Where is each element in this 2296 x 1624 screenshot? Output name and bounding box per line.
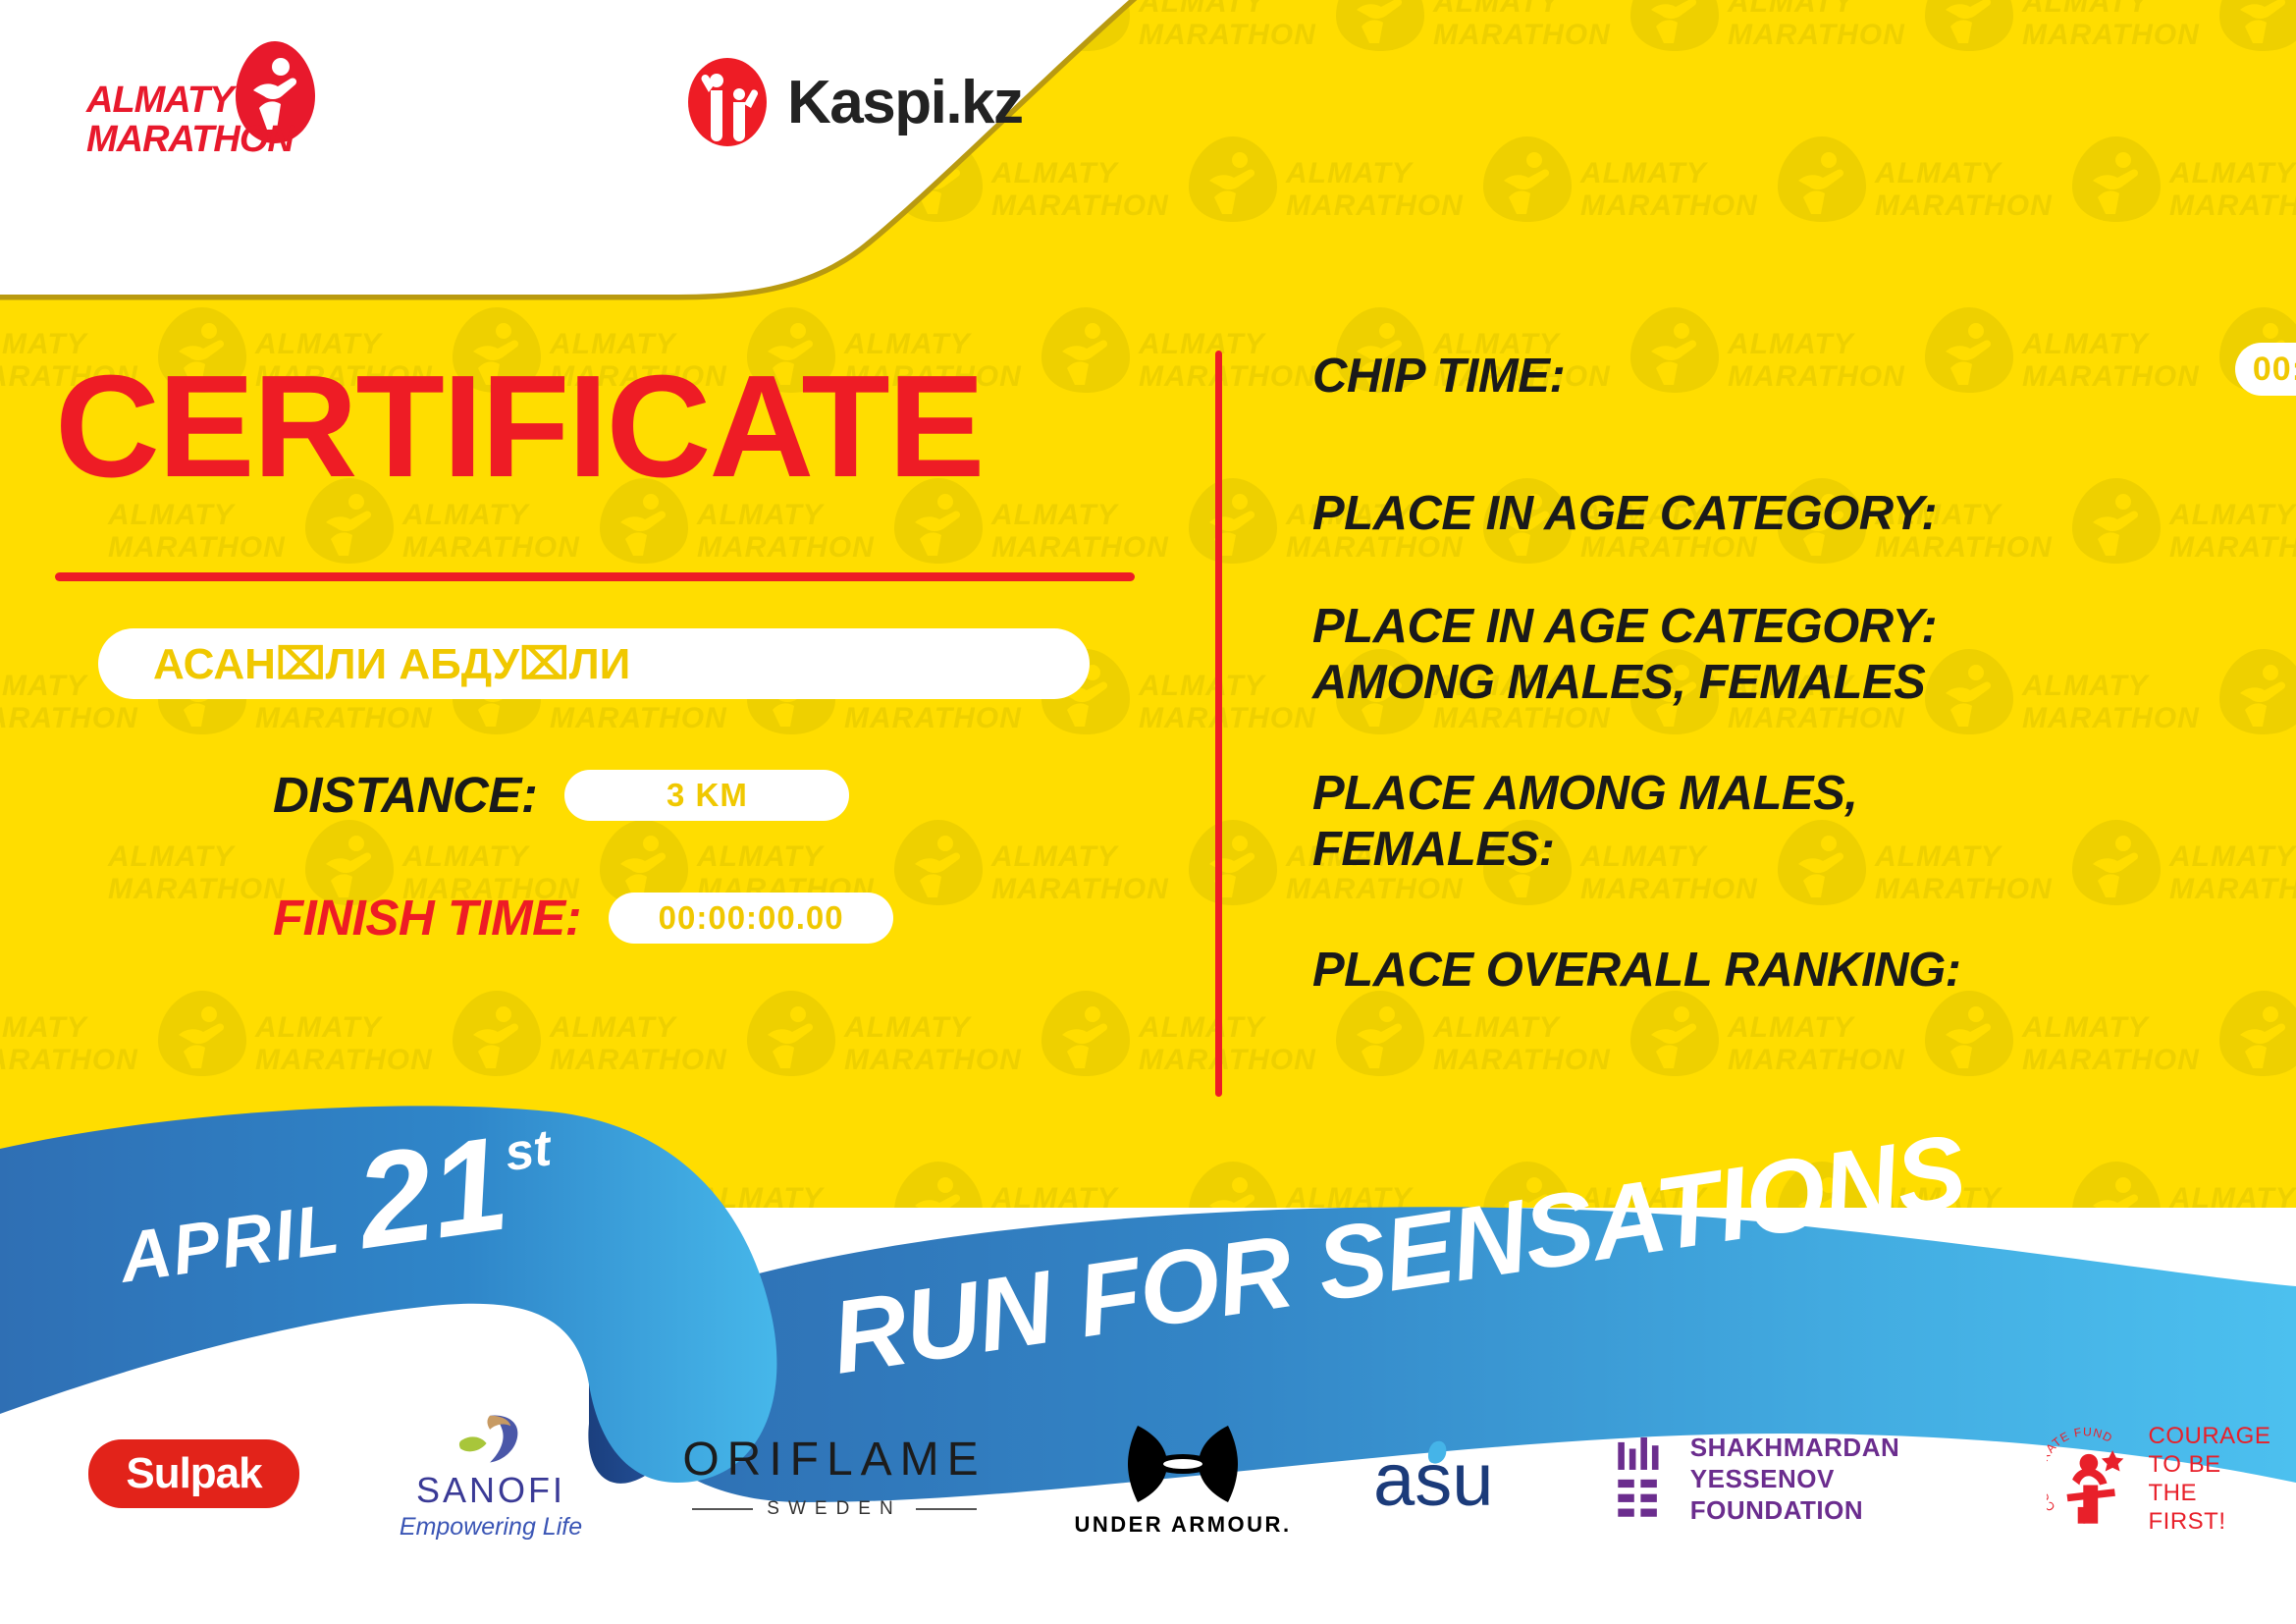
title-underline	[55, 572, 1135, 581]
watermark-runner-icon	[2216, 988, 2296, 1078]
watermark-tile: ALMATY MARATHON	[1286, 132, 1580, 302]
finish-time-row: FINISH TIME: 00:00:00.00	[273, 889, 893, 947]
watermark-text: ALMATY MARATHON	[2169, 840, 2296, 905]
watermark-runner-icon	[1039, 988, 1133, 1078]
place-age-category-gender-label: PLACE IN AGE CATEGORY: AMONG MALES, FEMA…	[1312, 599, 1937, 711]
place-overall-label: PLACE OVERALL RANKING:	[1312, 943, 1961, 999]
oriflame-rule-left	[692, 1508, 753, 1510]
sanofi-leaf-icon	[451, 1414, 531, 1466]
watermark-text: ALMATY MARATHON	[1728, 0, 1905, 51]
watermark-text: ALMATY MARATHON	[2022, 1011, 2200, 1076]
chip-time-value-pill: 00:00:00.00	[2235, 343, 2296, 396]
oriflame-sub-label: SWEDEN	[767, 1498, 901, 1520]
kaspi-person-icon	[687, 57, 768, 147]
finish-time-value-pill: 00:00:00.00	[609, 893, 893, 944]
watermark-runner-icon	[1922, 0, 2016, 53]
stat-row-chip-time: CHIP TIME: 00:00:00.00	[1312, 349, 1565, 405]
watermark-runner-icon	[1186, 475, 1280, 566]
watermark-runner-icon	[1186, 817, 1280, 907]
watermark-text: ALMATY MARATHON	[108, 499, 286, 564]
sulpak-logo: Sulpak	[88, 1439, 299, 1508]
kaspi-logo-text: Kaspi.kz	[787, 68, 1023, 137]
sponsor-corporate-fund: CORPORATE FUND COURAGE TO BE THE FIRST!	[2047, 1416, 2272, 1542]
watermark-text: ALMATY MARATHON	[1728, 1011, 1905, 1076]
watermark-text: ALMATY MARATHON	[1286, 157, 1464, 222]
watermark-text: ALMATY MARATHON	[108, 840, 286, 905]
watermark-text: ALMATY MARATHON	[402, 499, 580, 564]
watermark-tile: ALMATY MARATHON	[991, 473, 1286, 644]
watermark-runner-icon	[2069, 134, 2163, 224]
event-day-suffix: st	[502, 1118, 555, 1183]
place-among-gender-label: PLACE AMONG MALES, FEMALES:	[1312, 766, 1857, 878]
watermark-text: ALMATY MARATHON	[2022, 0, 2200, 51]
distance-value-pill: 3 KM	[564, 770, 849, 821]
watermark-runner-icon	[1333, 0, 1427, 53]
watermark-runner-icon	[2216, 0, 2296, 53]
stat-row-place-age-category-gender: PLACE IN AGE CATEGORY: AMONG MALES, FEMA…	[1312, 599, 1937, 711]
watermark-tile: ALMATY MARATHON	[2022, 0, 2296, 132]
sponsor-asu: asu	[1364, 1422, 1551, 1530]
chip-time-label: CHIP TIME:	[1312, 349, 1565, 405]
watermark-runner-icon	[2216, 646, 2296, 736]
distance-value: 3 KM	[667, 777, 748, 814]
watermark-runner-icon	[1628, 304, 1722, 395]
watermark-runner-icon	[1480, 134, 1575, 224]
watermark-runner-icon	[1628, 988, 1722, 1078]
watermark-tile: ALMATY MARATHON	[1728, 302, 2022, 473]
watermark-runner-icon	[1333, 988, 1427, 1078]
watermark-runner-icon	[744, 988, 838, 1078]
watermark-tile: ALMATY MARATHON	[2169, 815, 2296, 986]
sulpak-label: Sulpak	[126, 1449, 261, 1498]
almaty-marathon-logo: ALMATY MARATHON	[86, 47, 312, 155]
watermark-text: ALMATY MARATHON	[1139, 670, 1316, 734]
watermark-runner-icon	[1039, 304, 1133, 395]
watermark-text: ALMATY MARATHON	[844, 1011, 1022, 1076]
watermark-text: ALMATY MARATHON	[255, 1011, 433, 1076]
sponsor-sanofi: SANOFI Empowering Life	[393, 1414, 589, 1542]
watermark-text: ALMATY MARATHON	[1433, 1011, 1611, 1076]
finish-time-value: 00:00:00.00	[659, 899, 844, 937]
courage-child-icon: CORPORATE FUND	[2047, 1425, 2135, 1533]
watermark-text: ALMATY MARATHON	[2022, 670, 2200, 734]
watermark-tile: ALMATY MARATHON	[1433, 0, 1728, 132]
sponsor-under-armour: UNDER ARMOUR.	[1070, 1416, 1296, 1543]
stat-row-place-overall: PLACE OVERALL RANKING: 99999	[1312, 943, 1961, 999]
participant-name-field: АСАН⌧ЛИ АБДУ⌧ЛИ	[98, 628, 1090, 699]
oriflame-rule-right	[916, 1508, 977, 1510]
watermark-text: ALMATY MARATHON	[0, 1011, 138, 1076]
oriflame-sub-row: SWEDEN	[692, 1498, 976, 1520]
watermark-runner-icon	[450, 988, 544, 1078]
watermark-tile: ALMATY MARATHON	[991, 815, 1286, 986]
watermark-text: ALMATY MARATHON	[1728, 328, 1905, 393]
watermark-runner-icon	[2069, 475, 2163, 566]
finish-time-label: FINISH TIME:	[273, 889, 581, 947]
watermark-tile: ALMATY MARATHON	[2022, 644, 2296, 815]
oriflame-label: ORIFLAME	[682, 1433, 986, 1487]
event-day: 21	[349, 1115, 515, 1269]
watermark-text: ALMATY MARATHON	[1433, 0, 1611, 51]
stat-row-place-among-gender: PLACE AMONG MALES, FEMALES: 447	[1312, 766, 1857, 878]
watermark-text: ALMATY MARATHON	[550, 1011, 727, 1076]
vertical-divider	[1215, 351, 1222, 1097]
watermark-runner-icon	[891, 817, 986, 907]
watermark-tile: ALMATY MARATHON	[1580, 132, 1875, 302]
participant-name-value: АСАН⌧ЛИ АБДУ⌧ЛИ	[153, 639, 630, 689]
yessenov-label: SHAKHMARDAN YESSENOV FOUNDATION	[1690, 1432, 1988, 1526]
watermark-text: ALMATY MARATHON	[1875, 840, 2053, 905]
sponsor-yessenov-foundation: SHAKHMARDAN YESSENOV FOUNDATION	[1615, 1418, 1988, 1540]
under-armour-label: UNDER ARMOUR.	[1074, 1512, 1291, 1538]
sponsor-oriflame: ORIFLAME SWEDEN	[687, 1422, 982, 1530]
watermark-text: ALMATY MARATHON	[2169, 499, 2296, 564]
watermark-text: ALMATY MARATHON	[697, 499, 875, 564]
watermark-runner-icon	[1775, 134, 1869, 224]
watermark-text: ALMATY MARATHON	[991, 840, 1169, 905]
kaspi-logo: Kaspi.kz	[687, 57, 1023, 147]
sponsor-sulpak: Sulpak	[88, 1439, 299, 1508]
sponsor-bar: Sulpak SANOFI Empowering Life ORIFLAME S…	[0, 1404, 2296, 1624]
watermark-text: ALMATY MARATHON	[991, 499, 1169, 564]
asu-wordmark-icon: asu	[1369, 1429, 1546, 1523]
watermark-runner-icon	[2069, 817, 2163, 907]
watermark-text: ALMATY MARATHON	[1580, 157, 1758, 222]
sanofi-label: SANOFI	[416, 1470, 565, 1511]
chip-time-value: 00:00:00.00	[2253, 351, 2296, 389]
watermark-tile: ALMATY MARATHON	[1728, 0, 2022, 132]
watermark-text: ALMATY MARATHON	[2169, 157, 2296, 222]
watermark-runner-icon	[155, 988, 249, 1078]
place-age-category-label: PLACE IN AGE CATEGORY:	[1312, 486, 1937, 542]
watermark-runner-icon	[1922, 988, 2016, 1078]
corporate-fund-arc-text: CORPORATE FUND	[2047, 1425, 2115, 1514]
page-title: CERTIFICATE	[55, 353, 983, 501]
corporate-fund-label: COURAGE TO BE THE FIRST!	[2149, 1422, 2273, 1536]
watermark-tile: ALMATY MARATHON	[1875, 132, 2169, 302]
watermark-text: ALMATY MARATHON	[1139, 1011, 1316, 1076]
svg-text:CORPORATE FUND: CORPORATE FUND	[2047, 1425, 2115, 1514]
watermark-text: ALMATY MARATHON	[1875, 157, 2053, 222]
watermark-runner-icon	[1922, 304, 2016, 395]
watermark-text: ALMATY MARATHON	[2022, 328, 2200, 393]
distance-label: DISTANCE:	[273, 766, 537, 824]
almaty-logo-text: ALMATY MARATHON	[86, 81, 294, 159]
certificate-canvas: ALMATY MARATHONALMATY MARATHONALMATY MAR…	[0, 0, 2296, 1624]
watermark-tile: ALMATY MARATHON	[2169, 473, 2296, 644]
sanofi-tagline: Empowering Life	[400, 1513, 582, 1542]
watermark-text: ALMATY MARATHON	[1139, 328, 1316, 393]
stat-row-place-age-category: PLACE IN AGE CATEGORY: 673	[1312, 486, 1937, 542]
yessenov-bars-icon	[1615, 1429, 1667, 1529]
watermark-runner-icon	[1628, 0, 1722, 53]
under-armour-icon	[1124, 1422, 1242, 1506]
distance-row: DISTANCE: 3 KM	[273, 766, 849, 824]
watermark-tile: ALMATY MARATHON	[2169, 132, 2296, 302]
